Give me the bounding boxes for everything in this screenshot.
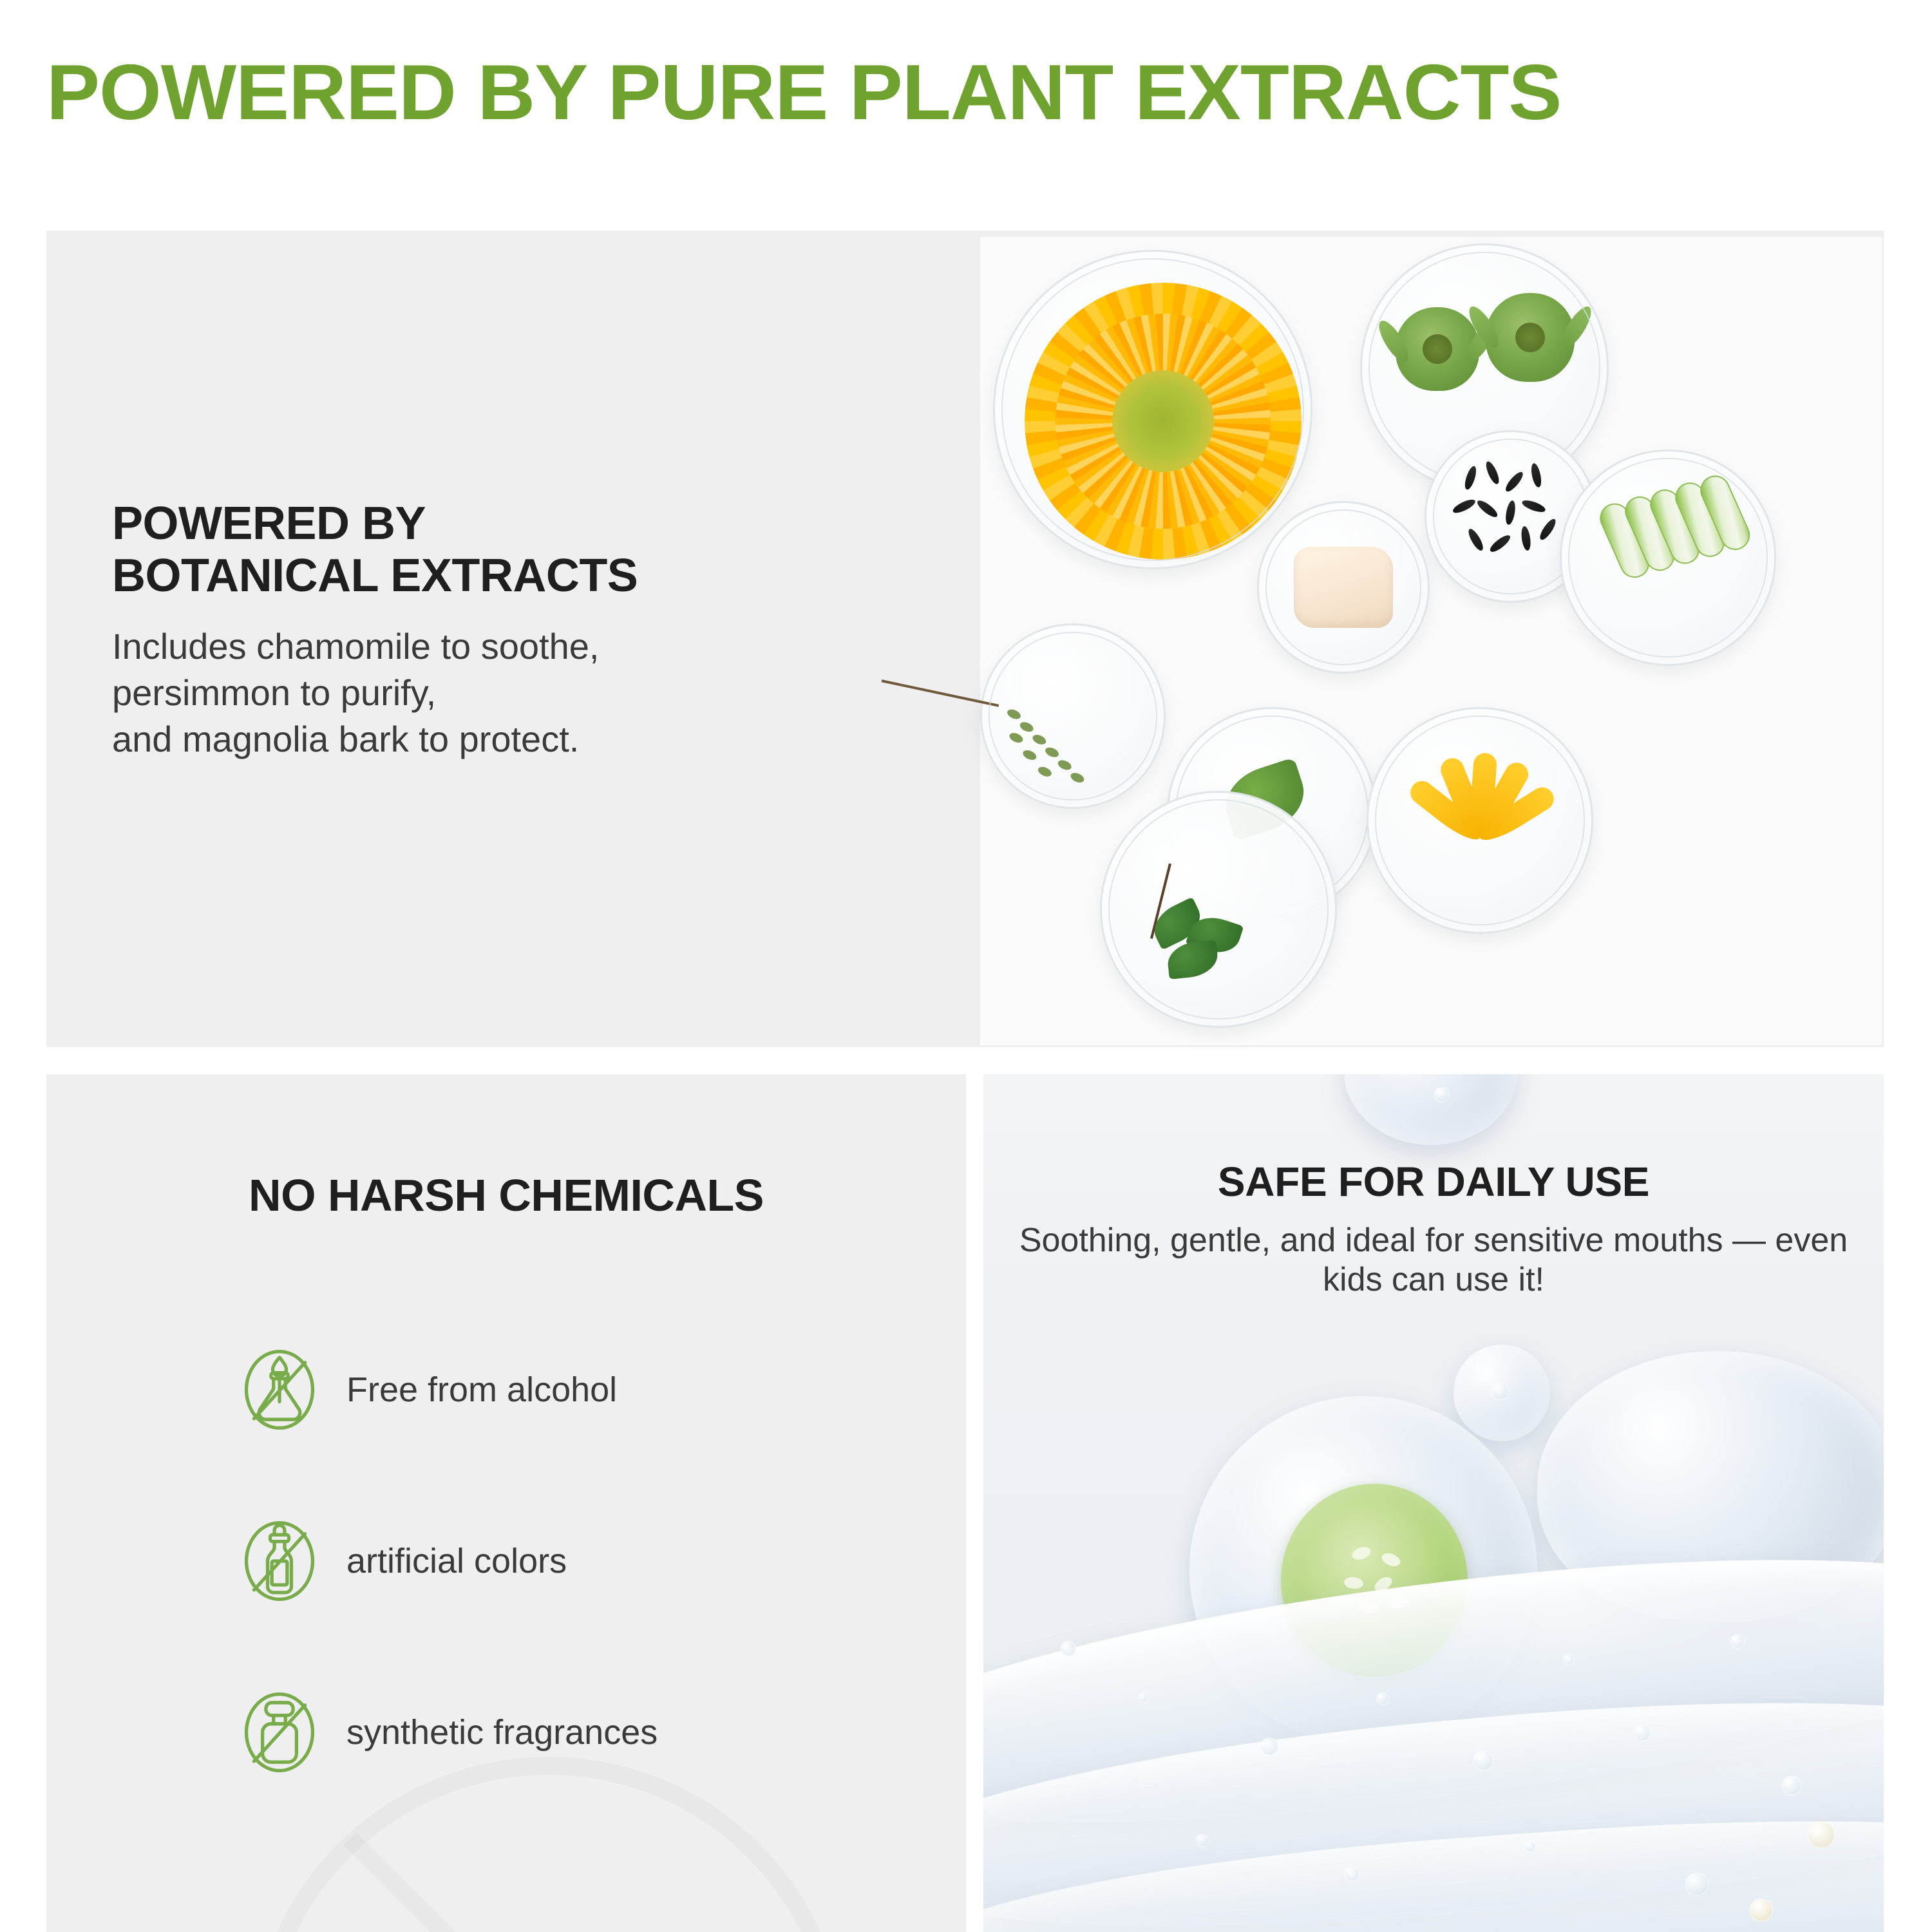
petri-dish-sunflower <box>993 250 1312 569</box>
claim-row-artificial-colors: artificial colors <box>237 1501 920 1622</box>
petri-dish-cream <box>1257 501 1430 674</box>
claims-list: Free from alcohol artificial colors <box>237 1329 920 1843</box>
top-panel-heading-line2: BOTANICAL EXTRACTS <box>112 550 638 601</box>
top-panel-body-line3: and magnolia bark to protect. <box>112 716 898 762</box>
no-perfume-bottle-icon <box>237 1690 322 1775</box>
gel-drop-top <box>1344 1074 1518 1145</box>
top-panel-text-block: POWERED BY BOTANICAL EXTRACTS Includes c… <box>112 498 898 762</box>
no-harsh-chemicals-heading: NO HARSH CHEMICALS <box>46 1170 966 1221</box>
no-alcohol-flask-icon <box>237 1347 322 1432</box>
claim-label: artificial colors <box>346 1544 567 1578</box>
panel-safe-for-daily-use: SAFE FOR DAILY USE Soothing, gentle, and… <box>983 1074 1884 1932</box>
top-panel-body-line1: Includes chamomile to soothe, <box>112 623 898 670</box>
claim-row-synthetic-fragrances: synthetic fragrances <box>237 1672 920 1793</box>
no-bottle-icon <box>237 1519 322 1604</box>
seed-cluster <box>1455 460 1567 573</box>
top-panel-body: Includes chamomile to soothe, persimmon … <box>112 623 898 762</box>
top-panel-heading-line1: POWERED BY <box>112 498 426 549</box>
top-panel-heading: POWERED BY BOTANICAL EXTRACTS <box>112 498 898 601</box>
page-title: POWERED BY PURE PLANT EXTRACTS <box>46 53 1922 131</box>
claim-label: Free from alcohol <box>346 1372 617 1407</box>
safe-for-daily-use-subtitle: Soothing, gentle, and ideal for sensitiv… <box>1013 1221 1854 1300</box>
green-bud-2 <box>1486 293 1575 382</box>
cream-blob <box>1294 547 1393 628</box>
sunflower-graphic <box>1025 283 1302 560</box>
panel-no-harsh-chemicals: NO HARSH CHEMICALS Free from alcohol <box>46 1074 966 1932</box>
green-bud-1 <box>1396 307 1479 391</box>
panel-botanical-extracts: POWERED BY BOTANICAL EXTRACTS Includes c… <box>46 231 1884 1047</box>
petri-dish-mint <box>1100 791 1337 1028</box>
top-panel-body-line2: persimmon to purify, <box>112 670 898 716</box>
infographic-page: POWERED BY PURE PLANT EXTRACTS POWERED B… <box>0 0 1932 1932</box>
claim-row-free-from-alcohol: Free from alcohol <box>237 1329 920 1450</box>
claim-label: synthetic fragrances <box>346 1715 658 1750</box>
petri-dish-yellow-petals <box>1367 707 1593 934</box>
botanical-ingredients-image <box>980 237 1882 1045</box>
petri-dish-thyme <box>980 623 1166 809</box>
petri-dish-cucumber-wedges <box>1560 450 1776 666</box>
safe-for-daily-use-heading: SAFE FOR DAILY USE <box>983 1158 1884 1206</box>
